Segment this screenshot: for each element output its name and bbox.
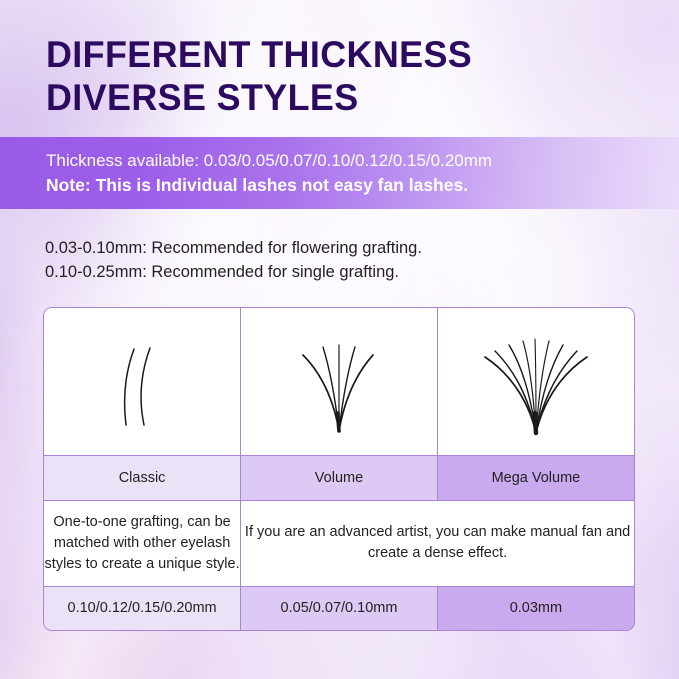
label-classic: Classic bbox=[119, 470, 166, 486]
banner-note-line: Note: This is Individual lashes not easy… bbox=[0, 173, 679, 198]
cell-illustration-classic bbox=[44, 308, 241, 455]
title-line-1: DIFFERENT THICKNESS bbox=[46, 33, 628, 76]
thickness-banner: Thickness available: 0.03/0.05/0.07/0.10… bbox=[0, 137, 679, 209]
style-comparison-table: Classic Volume Mega Volume One-to-one gr… bbox=[43, 307, 635, 631]
title-line-2: DIVERSE STYLES bbox=[46, 76, 628, 119]
table-row-illustrations bbox=[44, 308, 634, 455]
size-mega-volume: 0.03mm bbox=[510, 600, 562, 616]
infographic-page: DIFFERENT THICKNESS DIVERSE STYLES Thick… bbox=[0, 0, 679, 679]
size-cell-classic: 0.10/0.12/0.15/0.20mm bbox=[44, 586, 241, 630]
label-cell-volume: Volume bbox=[241, 455, 438, 500]
cell-illustration-volume bbox=[241, 308, 438, 455]
size-volume: 0.05/0.07/0.10mm bbox=[281, 600, 398, 616]
cell-illustration-mega-volume bbox=[437, 308, 634, 455]
label-cell-classic: Classic bbox=[44, 455, 241, 500]
recommendation-list: 0.03-0.10mm: Recommended for flowering g… bbox=[45, 236, 645, 284]
description-volume-mega: If you are an advanced artist, you can m… bbox=[245, 524, 630, 561]
banner-thickness-line: Thickness available: 0.03/0.05/0.07/0.10… bbox=[0, 148, 679, 173]
recommendation-line-2: 0.10-0.25mm: Recommended for single graf… bbox=[45, 260, 645, 284]
description-cell-volume-mega: If you are an advanced artist, you can m… bbox=[241, 500, 634, 586]
volume-fan-icon bbox=[241, 310, 437, 452]
table-row-sizes: 0.10/0.12/0.15/0.20mm 0.05/0.07/0.10mm 0… bbox=[44, 586, 634, 630]
classic-lash-icon bbox=[44, 310, 240, 452]
description-classic: One-to-one grafting, can be matched with… bbox=[45, 514, 240, 572]
recommendation-line-1: 0.03-0.10mm: Recommended for flowering g… bbox=[45, 236, 645, 260]
table-row-labels: Classic Volume Mega Volume bbox=[44, 455, 634, 500]
size-classic: 0.10/0.12/0.15/0.20mm bbox=[68, 600, 217, 616]
page-title: DIFFERENT THICKNESS DIVERSE STYLES bbox=[46, 33, 646, 119]
size-cell-mega-volume: 0.03mm bbox=[437, 586, 634, 630]
label-cell-mega-volume: Mega Volume bbox=[437, 455, 634, 500]
label-volume: Volume bbox=[315, 470, 363, 486]
mega-volume-fan-icon bbox=[438, 310, 634, 452]
table-row-descriptions: One-to-one grafting, can be matched with… bbox=[44, 500, 634, 586]
label-mega-volume: Mega Volume bbox=[492, 470, 581, 486]
size-cell-volume: 0.05/0.07/0.10mm bbox=[241, 586, 438, 630]
description-cell-classic: One-to-one grafting, can be matched with… bbox=[44, 500, 241, 586]
